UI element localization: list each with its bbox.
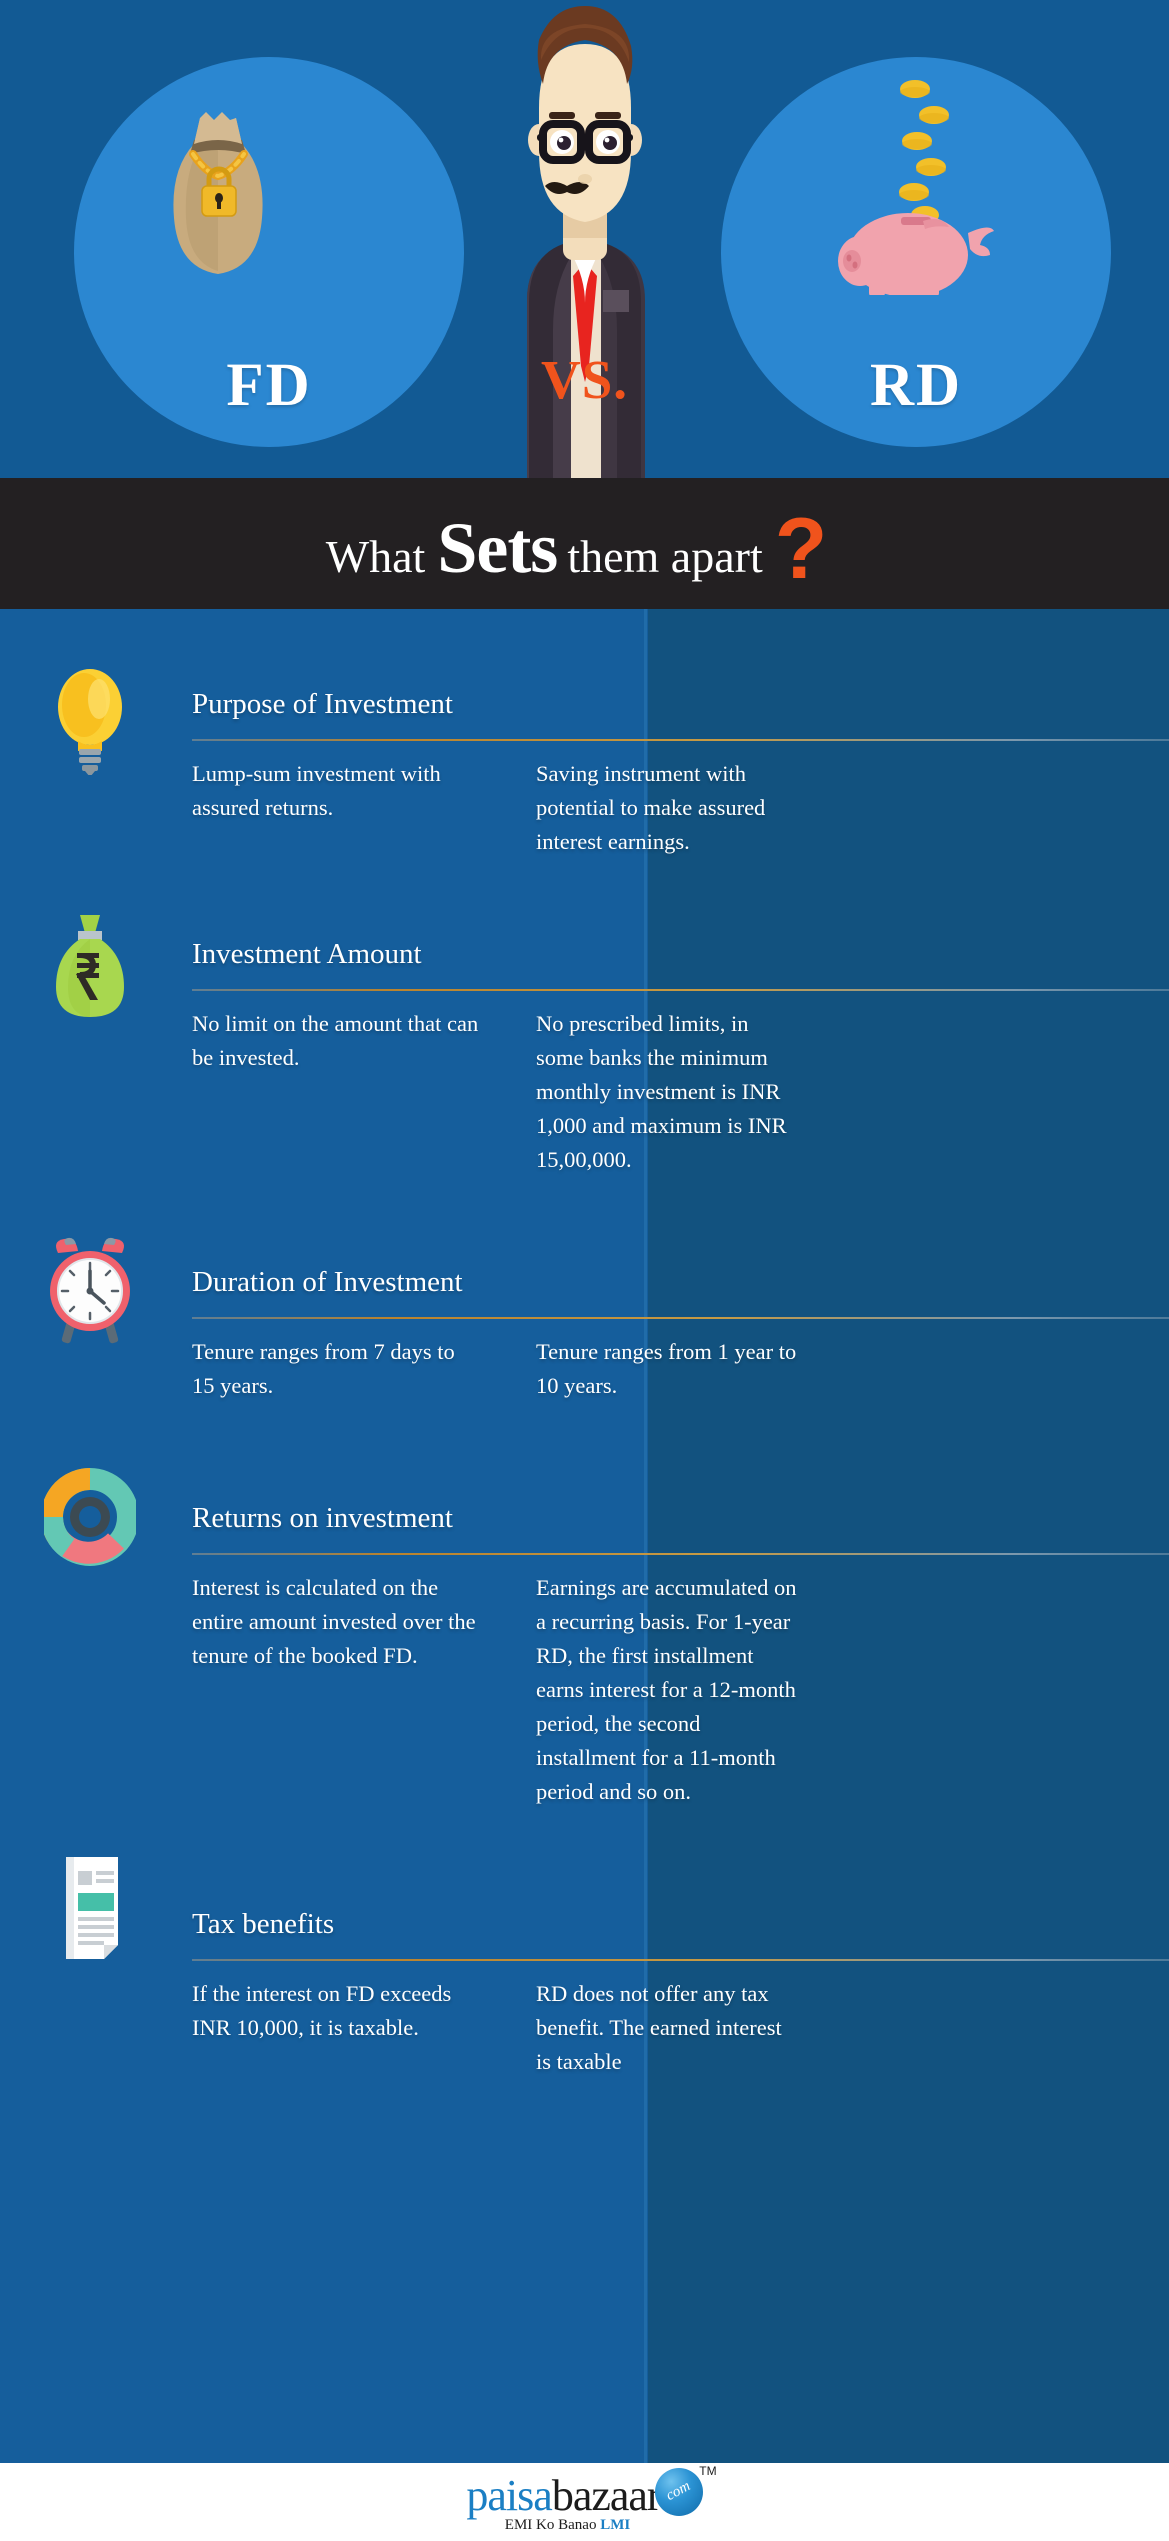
vs-label: VS. (0, 348, 1169, 411)
comparison-row: Tax benefits If the interest on FD excee… (0, 1809, 1169, 2079)
title-text: What Sets them apart ? (326, 494, 828, 593)
row-header: Purpose of Investment (120, 681, 1169, 743)
logo-paisa: paisa (466, 2470, 551, 2521)
fd-cell: Tenure ranges from 7 days to 15 years. (192, 1335, 500, 1403)
rd-cell: Earnings are accumulated on a recurring … (500, 1571, 800, 1809)
rd-cell: RD does not offer any tax benefit. The e… (500, 1977, 800, 2079)
money-bag-with-lock-icon (160, 110, 276, 280)
row-header: Tax benefits (120, 1901, 1169, 1963)
fd-cell: Interest is calculated on the entire amo… (192, 1571, 500, 1809)
fd-cell: No limit on the amount that can be inves… (192, 1007, 500, 1177)
row-body: Interest is calculated on the entire amo… (120, 1557, 1169, 1809)
hero-section: VS. FD RD (0, 0, 1169, 478)
row-header: Investment Amount (120, 931, 1169, 993)
rd-cell: No prescribed limits, in some banks the … (500, 1007, 800, 1177)
row-header: Returns on investment (120, 1495, 1169, 1557)
paisabazaar-logo[interactable]: paisa bazaar com TM EMI Ko Banao LMI (466, 2470, 702, 2534)
row-title: Duration of Investment (192, 1259, 1169, 1305)
fd-cell: Lump-sum investment with assured returns… (192, 757, 500, 859)
rd-cell: Saving instrument with potential to make… (500, 757, 800, 859)
comparison-row: Investment Amount No limit on the amount… (0, 859, 1169, 1177)
logo-wordmark: paisa bazaar com TM (466, 2470, 702, 2521)
comparison-row: Purpose of Investment Lump-sum investmen… (0, 609, 1169, 859)
title-part-what: What (326, 530, 426, 583)
comparison-rows: Purpose of Investment Lump-sum investmen… (0, 609, 1169, 2079)
comparison-row: Duration of Investment Tenure ranges fro… (0, 1177, 1169, 1403)
row-body: If the interest on FD exceeds INR 10,000… (120, 1963, 1169, 2079)
logo-com-circle-icon: com (655, 2468, 703, 2516)
comparison-section: Purpose of Investment Lump-sum investmen… (0, 609, 1169, 2463)
trademark-symbol: TM (699, 2464, 716, 2478)
logo-com-text: com (664, 2478, 694, 2505)
logo-bazaar: bazaar (552, 2470, 661, 2521)
row-body: Lump-sum investment with assured returns… (120, 743, 1169, 859)
row-body: Tenure ranges from 7 days to 15 years. T… (120, 1321, 1169, 1403)
footer: paisa bazaar com TM EMI Ko Banao LMI (0, 2463, 1169, 2541)
row-rule (192, 739, 1169, 741)
comparison-row: Returns on investment Interest is calcul… (0, 1403, 1169, 1809)
fd-cell: If the interest on FD exceeds INR 10,000… (192, 1977, 500, 2079)
row-title: Purpose of Investment (192, 681, 1169, 727)
title-part-sets: Sets (437, 507, 557, 590)
piggy-bank-with-coins-icon (805, 75, 1025, 295)
row-rule (192, 1317, 1169, 1319)
title-part-them-apart: them apart (567, 530, 762, 583)
row-rule (192, 1959, 1169, 1961)
row-header: Duration of Investment (120, 1259, 1169, 1321)
row-title: Tax benefits (192, 1901, 1169, 1947)
row-rule (192, 989, 1169, 991)
row-rule (192, 1553, 1169, 1555)
row-title: Investment Amount (192, 931, 1169, 977)
title-banner: What Sets them apart ? (0, 478, 1169, 609)
question-mark-icon: ? (775, 500, 828, 599)
row-body: No limit on the amount that can be inves… (120, 993, 1169, 1177)
row-title: Returns on investment (192, 1495, 1169, 1541)
rd-cell: Tenure ranges from 1 year to 10 years. (500, 1335, 800, 1403)
